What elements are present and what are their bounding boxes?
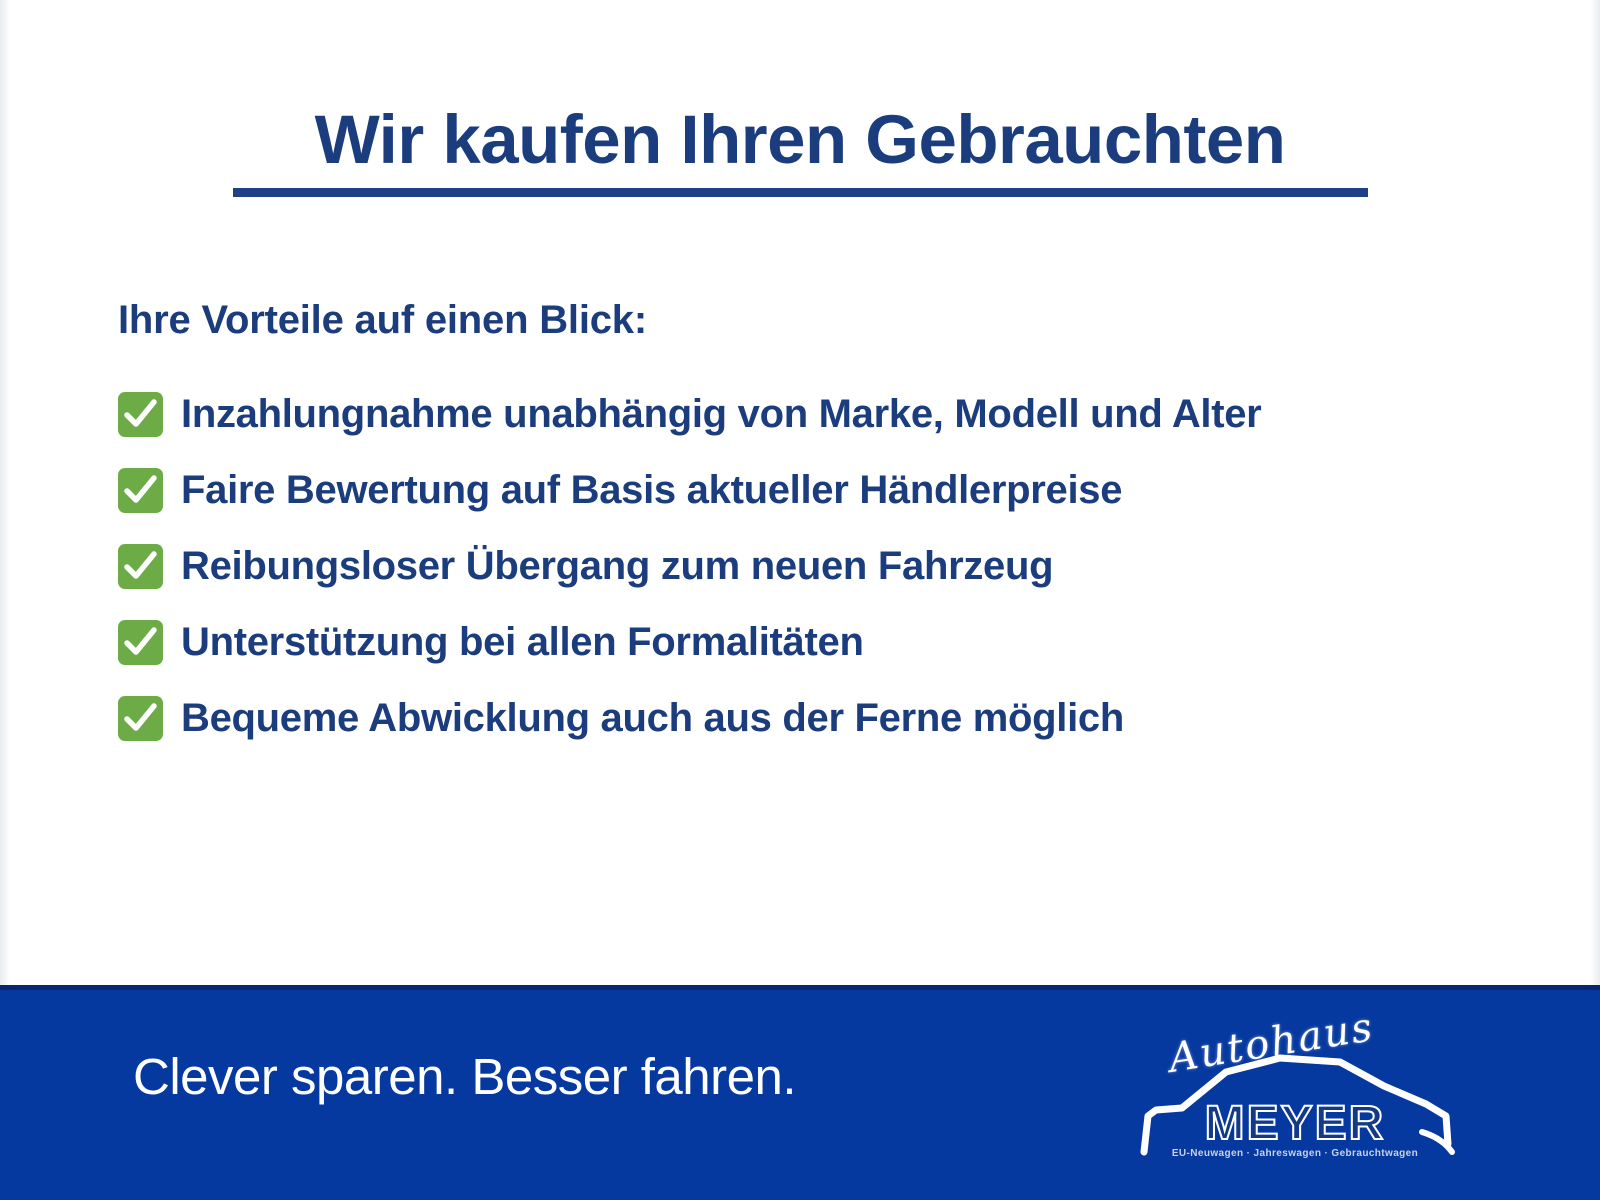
- list-item: Unterstützung bei allen Formalitäten: [118, 604, 1518, 680]
- list-item: Bequeme Abwicklung auch aus der Ferne mö…: [118, 680, 1518, 756]
- check-icon: [118, 392, 163, 437]
- page-title-block: Wir kaufen Ihren Gebrauchten: [0, 104, 1600, 197]
- list-item-label: Faire Bewertung auf Basis aktueller Händ…: [181, 470, 1122, 510]
- autohaus-meyer-logo: Autohaus MEYER EU-Neuwagen · Jahreswagen…: [1130, 1012, 1460, 1172]
- list-item-label: Unterstützung bei allen Formalitäten: [181, 622, 864, 662]
- benefits-subheading: Ihre Vorteile auf einen Blick:: [118, 298, 647, 343]
- logo-subtitle: EU-Neuwagen · Jahreswagen · Gebrauchtwag…: [1154, 1148, 1436, 1159]
- benefits-list: Inzahlungnahme unabhängig von Marke, Mod…: [118, 376, 1518, 756]
- list-item-label: Inzahlungnahme unabhängig von Marke, Mod…: [181, 394, 1261, 434]
- promo-poster: Wir kaufen Ihren Gebrauchten Ihre Vortei…: [0, 0, 1600, 1200]
- check-icon: [118, 696, 163, 741]
- title-underline: [233, 188, 1368, 197]
- check-icon: [118, 468, 163, 513]
- check-icon: [118, 620, 163, 665]
- page-title: Wir kaufen Ihren Gebrauchten: [315, 104, 1286, 176]
- list-item-label: Reibungsloser Übergang zum neuen Fahrzeu…: [181, 546, 1053, 586]
- check-icon: [118, 544, 163, 589]
- footer-tagline: Clever sparen. Besser fahren.: [133, 1047, 796, 1106]
- logo-name: MEYER: [1170, 1096, 1420, 1151]
- list-item-label: Bequeme Abwicklung auch aus der Ferne mö…: [181, 698, 1124, 738]
- list-item: Reibungsloser Übergang zum neuen Fahrzeu…: [118, 528, 1518, 604]
- list-item: Faire Bewertung auf Basis aktueller Händ…: [118, 452, 1518, 528]
- list-item: Inzahlungnahme unabhängig von Marke, Mod…: [118, 376, 1518, 452]
- footer-bar: Clever sparen. Besser fahren. Autohaus M…: [0, 985, 1600, 1200]
